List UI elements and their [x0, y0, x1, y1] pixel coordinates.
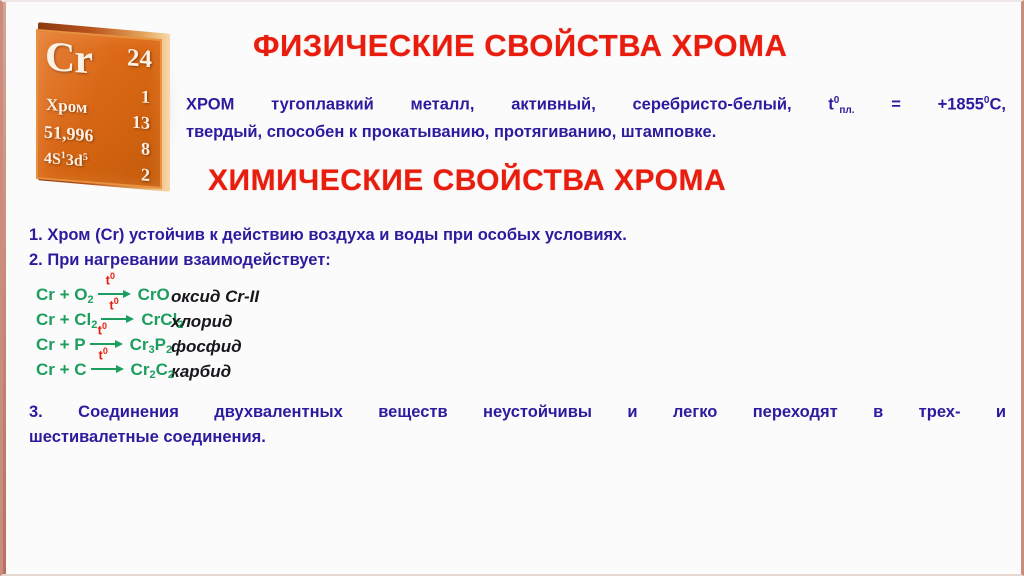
phys-line1-subscript: пл.: [839, 105, 854, 116]
arrow-icon: [98, 293, 129, 295]
reaction-row: Cr + Cl2 t0 CrCl2 хлорид: [36, 307, 259, 332]
arrow-icon: [101, 318, 132, 320]
reaction-arrow-with-condition: t0: [90, 355, 128, 375]
chemical-item-3-line-2: шестивалетные соединения.: [29, 425, 1006, 450]
temperature-condition: t0: [109, 297, 118, 311]
phys-line1-part-c: С,: [989, 96, 1006, 114]
temperature-condition: t0: [99, 347, 108, 361]
element-tile-face: Cr 24 Хром 51,996 4S13d5 1 13 8 2: [36, 29, 162, 189]
phys-line1-part-b: = +1855: [855, 96, 984, 114]
chemical-property-item-3: 3. Соединения двухвалентных веществ неус…: [29, 400, 1006, 450]
reaction-label: оксид Cr-II: [171, 287, 259, 307]
reaction-equation: Cr + C t0 Cr2C2: [36, 355, 171, 382]
reactant-text: Cr + O: [36, 285, 88, 304]
chemical-property-item-1: 1. Хром (Cr) устойчив к действию воздуха…: [29, 226, 627, 245]
reaction-label: фосфид: [171, 337, 242, 357]
reaction-reactants: Cr + C: [36, 360, 87, 382]
chemical-property-item-2: 2. При нагревании взаимодействует:: [29, 251, 331, 270]
physical-properties-line-1: ХРОМ тугоплавкий металл, активный, сереб…: [186, 89, 1006, 120]
reaction-products: Cr3P2: [130, 335, 173, 357]
product-subscript-2: 2: [168, 369, 174, 381]
config-sup-2: 5: [83, 152, 88, 163]
product-subscript: 2: [177, 319, 183, 331]
condition-superscript: 0: [110, 271, 115, 281]
heading-physical-properties: ФИЗИЧЕСКИЕ СВОЙСТВА ХРОМА: [253, 28, 787, 64]
config-part-1: 4S: [44, 150, 61, 168]
phys-line1-part-a: ХРОМ тугоплавкий металл, активный, сереб…: [186, 96, 834, 114]
shell-count: 1: [116, 81, 150, 110]
config-part-2: 3d: [66, 152, 83, 170]
reactant-subscript: 2: [88, 294, 94, 306]
reaction-products: Cr2C2: [131, 360, 174, 382]
product-subscript-2: 2: [166, 344, 172, 356]
reaction-row: Cr + C t0 Cr2C2 карбид: [36, 357, 259, 382]
chemical-item-3-line-1: 3. Соединения двухвалентных веществ неус…: [29, 400, 1006, 425]
reactant-text: Cr + C: [36, 360, 87, 379]
element-name: Хром: [46, 96, 88, 116]
heading-chemical-properties: ХИМИЧЕСКИЕ СВОЙСТВА ХРОМА: [208, 164, 726, 198]
product-text: Cr: [131, 360, 150, 379]
reaction-label: карбид: [171, 362, 231, 382]
product-text: CrO: [138, 285, 170, 304]
element-atomic-number: 24: [127, 45, 152, 72]
reaction-reactants: Cr + P: [36, 335, 86, 357]
element-shell-list: 1 13 8 2: [116, 81, 150, 188]
shell-count: 8: [116, 133, 150, 162]
condition-superscript: 0: [102, 321, 107, 331]
reaction-row: Cr + P t0 Cr3P2 фосфид: [36, 332, 259, 357]
arrow-icon: [91, 368, 122, 370]
element-electron-configuration: 4S13d5: [44, 150, 88, 171]
product-text-2: C: [156, 360, 168, 379]
reaction-products: CrO: [138, 285, 170, 307]
product-subscript: 3: [149, 344, 155, 356]
element-tile: Cr 24 Хром 51,996 4S13d5 1 13 8 2: [28, 25, 180, 191]
reaction-equation: Cr + O2 t0 CrO: [36, 280, 171, 307]
physical-properties-text: ХРОМ тугоплавкий металл, активный, сереб…: [186, 89, 1006, 144]
temperature-condition: t0: [106, 272, 115, 286]
shell-count: 13: [116, 107, 150, 136]
arrow-icon: [90, 343, 121, 345]
condition-superscript: 0: [103, 346, 108, 356]
element-tile-content: Cr 24 Хром 51,996 4S13d5 1 13 8 2: [38, 31, 160, 187]
condition-superscript: 0: [114, 296, 119, 306]
physical-properties-line-2: твердый, способен к прокатыванию, протяг…: [186, 120, 1006, 144]
shell-count: 2: [116, 159, 150, 188]
product-text-2: P: [155, 335, 166, 354]
reaction-reactants: Cr + O2: [36, 285, 94, 307]
temperature-condition: t0: [98, 322, 107, 336]
reaction-row: Cr + O2 t0 CrO оксид Cr-II: [36, 282, 259, 307]
reactant-text: Cr + Cl: [36, 310, 91, 329]
element-atomic-mass: 51,996: [44, 123, 94, 145]
product-subscript: 2: [149, 369, 155, 381]
reaction-list: Cr + O2 t0 CrO оксид Cr-II Cr + Cl2 t0 C…: [36, 282, 259, 382]
reaction-reactants: Cr + Cl2: [36, 310, 97, 332]
slide-root: Cr 24 Хром 51,996 4S13d5 1 13 8 2 ФИЗИЧЕ…: [0, 0, 1024, 576]
element-symbol: Cr: [45, 36, 92, 82]
reactant-text: Cr + P: [36, 335, 86, 354]
product-text: Cr: [130, 335, 149, 354]
